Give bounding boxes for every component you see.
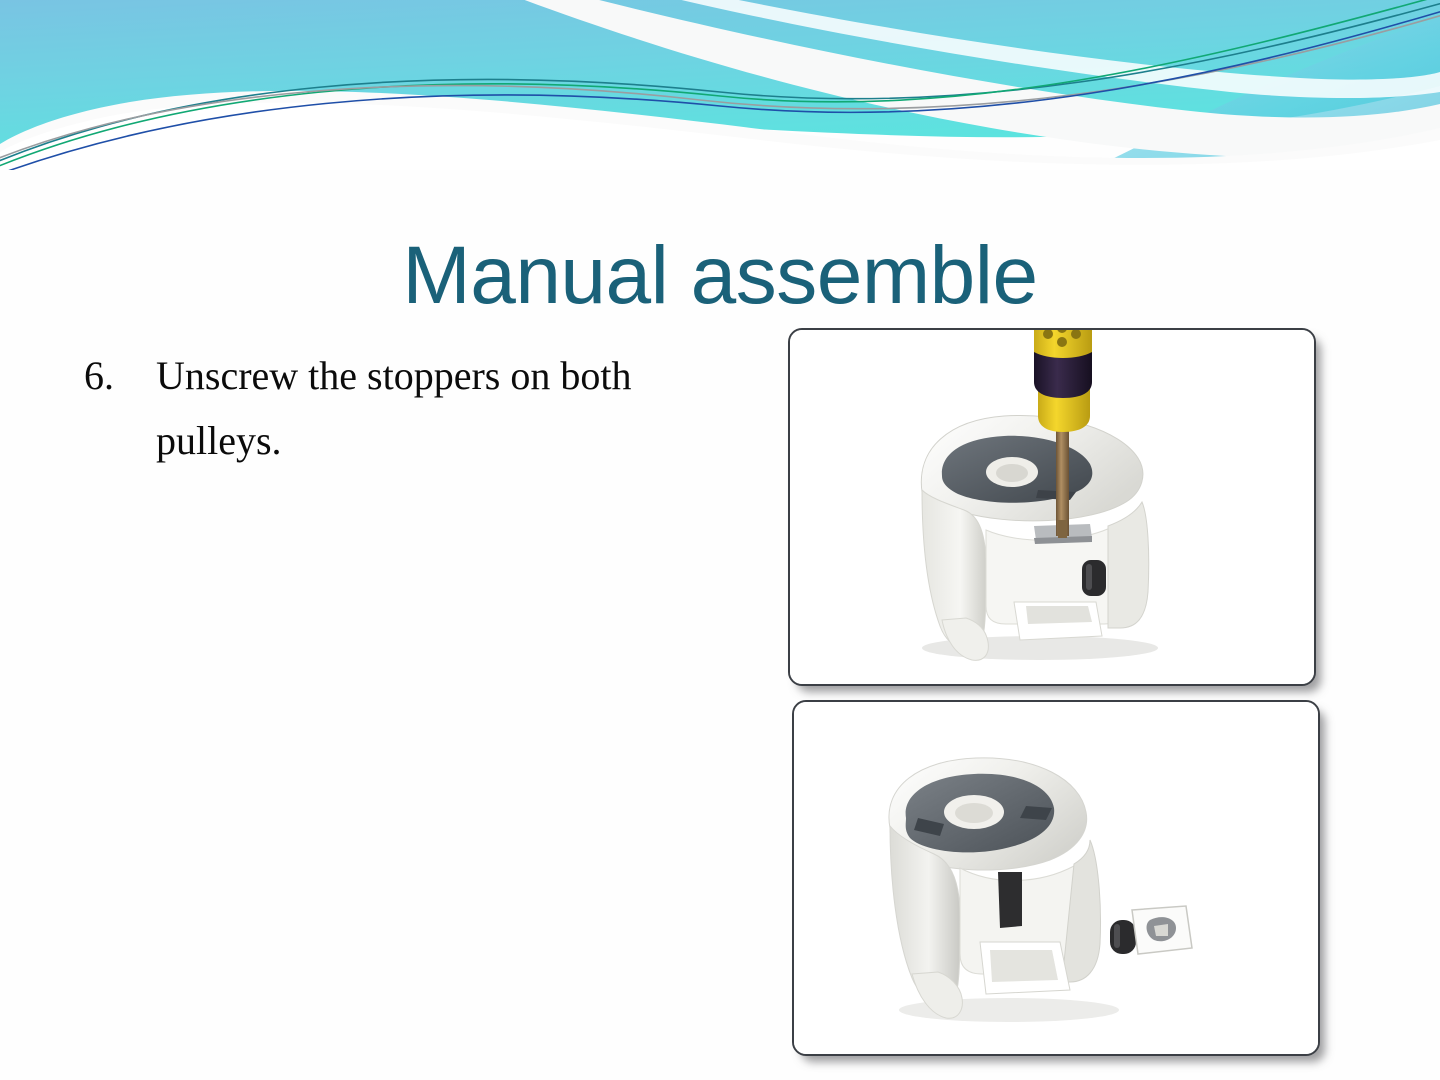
wave-line-teal [0, 2, 1440, 163]
list-item-text: Unscrew the stoppers on both pulleys. [156, 344, 724, 474]
pulley-with-removed-stopper-photo [794, 702, 1318, 1054]
list-item-number: 6. [84, 344, 156, 409]
removed-stopper-screw [1110, 920, 1136, 954]
wave-white-swoosh-upper [498, 0, 1440, 158]
pulley-dark-slot [998, 872, 1022, 928]
header-wave-decoration [0, 0, 1440, 170]
stopper-screw-highlight [1086, 564, 1092, 590]
wave-line-gray [0, 14, 1440, 160]
wave-white-swoosh-lower [640, 0, 1440, 98]
wave-blue-field [0, 0, 1440, 152]
wave-white-foreground-2 [0, 103, 1440, 170]
presentation-slide: Manual assemble 6. Unscrew the stoppers … [0, 0, 1440, 1080]
plate-center-hole-inner [996, 464, 1028, 482]
slide-body-list: 6. Unscrew the stoppers on both pulleys. [84, 344, 724, 474]
wave-line-blue [0, 10, 1440, 170]
stopper-screw [1082, 560, 1106, 596]
plate-center-hole-inner [955, 803, 993, 823]
wave-white-foreground [0, 91, 1440, 170]
removed-stopper-bracket-tab [1154, 924, 1168, 936]
slide-title: Manual assemble [0, 233, 1440, 319]
wave-line-green [0, 0, 1440, 168]
screwdriver-shaft [1056, 426, 1069, 536]
pulley-mouth-shade [990, 950, 1058, 982]
picture-frame-screwdriver[interactable] [788, 328, 1316, 686]
removed-stopper-screw-highlight [1114, 924, 1120, 948]
screwdriver-shaft-tip [1058, 520, 1067, 538]
pulley-slot-shadow [1026, 606, 1092, 624]
list-item: 6. Unscrew the stoppers on both pulleys. [84, 344, 724, 474]
cap-dot-3 [1057, 337, 1067, 347]
wave-blue-lobe-right [1090, 18, 1440, 170]
picture-frame-pulley-removed[interactable] [792, 700, 1320, 1056]
screwdriver-unscrewing-stopper-photo [790, 330, 1314, 684]
